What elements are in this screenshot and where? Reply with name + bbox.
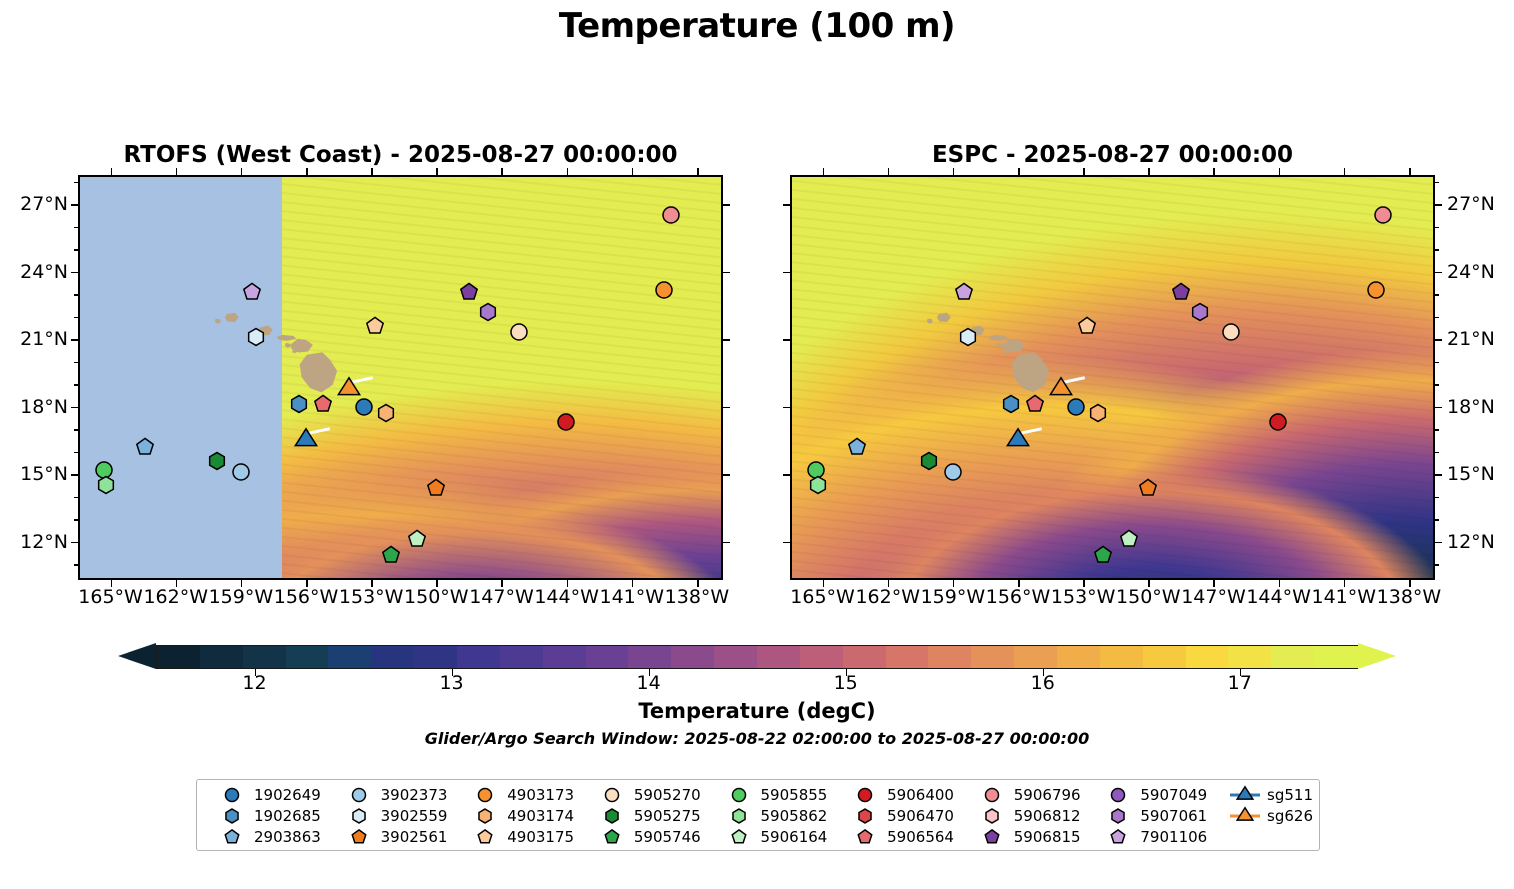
colorbar-segment [586,646,630,668]
y-minor-tick [1435,272,1439,273]
y-minor-tick [74,204,78,205]
marker-5906564[interactable] [314,395,333,414]
marker-4903174[interactable] [377,404,396,423]
y-tick [783,204,790,206]
legend-item-4903175[interactable]: 4903175 [458,826,585,847]
y-minor-tick [1435,249,1439,250]
marker-5906815[interactable] [1171,282,1190,301]
marker-3902561[interactable] [427,478,446,497]
legend-item-5906815[interactable]: 5906815 [965,826,1092,847]
marker-7901106[interactable] [242,282,261,301]
x-tick-top [1148,168,1150,175]
legend-marker-pentagon-icon [850,827,880,847]
y-minor-tick [74,497,78,498]
y-minor-tick [74,384,78,385]
marker-sg511[interactable] [1006,428,1030,452]
colorbar-segment [543,646,587,668]
legend-item-5906470[interactable]: 5906470 [838,806,965,827]
colorbar-segment [1100,646,1144,668]
legend-label: 5906815 [1014,828,1081,846]
x-tick-label: 162°W [139,586,213,608]
legend-item-5907061[interactable]: 5907061 [1091,806,1218,827]
y-tick [783,272,790,274]
colorbar-segment [757,646,801,668]
marker-2903863[interactable] [136,438,155,457]
colorbar-segment [500,646,544,668]
y-minor-tick [1435,182,1439,183]
x-tick-top [1409,168,1411,175]
legend-marker-pentagon-icon [597,827,627,847]
marker-sg511[interactable] [294,428,318,452]
marker-4903175[interactable] [366,316,385,335]
y-tick-label: 12°N [2,531,68,553]
marker-5905862[interactable] [809,476,828,495]
y-tick-label: 18°N [2,396,68,418]
y-minor-tick [74,272,78,273]
y-tick-label: 15°N [1447,463,1513,485]
x-tick-top [1344,168,1346,175]
x-tick-label: 147°W [464,586,538,608]
colorbar-tick-label: 16 [1013,672,1073,694]
panel-title-espc: ESPC - 2025-08-27 00:00:00 [790,141,1435,169]
legend-item-5905862[interactable]: 5905862 [712,806,839,827]
y-minor-tick [74,429,78,430]
colorbar-segment [328,646,372,668]
colorbar-segment [1314,646,1358,668]
y-minor-tick [1435,384,1439,385]
y-minor-tick [74,474,78,475]
y-tick-right [723,474,730,476]
legend-label: 4903174 [507,807,574,825]
legend-label: 7901106 [1140,828,1207,846]
legend-label: 5906164 [761,828,828,846]
y-minor-tick [74,407,78,408]
y-tick-label: 27°N [1447,193,1513,215]
colorbar-label: Temperature (degC) [0,699,1514,723]
marker-5906796[interactable] [1373,206,1392,225]
legend-item-4903173[interactable]: 4903173 [458,785,585,806]
marker-sg626[interactable] [1049,377,1073,401]
y-minor-tick [1435,474,1439,475]
y-minor-tick [74,452,78,453]
legend-marker-circle-icon [724,785,754,805]
y-tick-label: 18°N [1447,396,1513,418]
legend-item-5906812[interactable]: 5906812 [965,806,1092,827]
marker-7901106[interactable] [954,282,973,301]
colorbar-segment [800,646,844,668]
legend-label: 5907061 [1140,807,1207,825]
legend-item-5905746[interactable]: 5905746 [585,826,712,847]
marker-3902373[interactable] [231,462,250,481]
legend-label: 1902649 [254,786,321,804]
legend-item-7901106[interactable]: 7901106 [1091,826,1218,847]
colorbar-extend-low [118,643,156,669]
colorbar-segment [1014,646,1058,668]
legend-grid: 1902649190268529038633902373390255939025… [205,785,1313,847]
legend-item-2903863[interactable]: 2903863 [205,826,332,847]
x-tick-top [241,168,243,175]
marker-5905275[interactable] [207,451,226,470]
marker-4903173[interactable] [655,280,674,299]
x-tick-label: 153°W [1046,586,1120,608]
legend-marker-triangle-icon [1230,785,1260,805]
colorbar-segment [243,646,287,668]
x-tick-top [436,168,438,175]
marker-5906400[interactable] [1269,413,1288,432]
y-tick [783,542,790,544]
marker-4903175[interactable] [1078,316,1097,335]
legend-item-5905275[interactable]: 5905275 [585,806,712,827]
legend-item-5906400[interactable]: 5906400 [838,785,965,806]
x-tick-top [306,168,308,175]
colorbar [118,645,1396,669]
marker-5906164[interactable] [407,530,426,549]
legend-marker-circle-icon [470,785,500,805]
legend-label: 5906564 [887,828,954,846]
legend-label: sg626 [1267,807,1313,825]
x-tick-label: 141°W [595,586,669,608]
legend-marker-hexagon-icon [1103,806,1133,826]
legend-item-3902561[interactable]: 3902561 [332,826,459,847]
legend-item-1902649[interactable]: 1902649 [205,785,332,806]
y-minor-tick [74,339,78,340]
y-tick-label: 21°N [2,328,68,350]
legend-marker-circle-icon [850,785,880,805]
x-tick-label: 153°W [334,586,408,608]
y-minor-tick [1435,564,1439,565]
x-tick-label: 159°W [916,586,990,608]
x-tick-label: 147°W [1176,586,1250,608]
marker-5905746[interactable] [381,546,400,565]
legend-label: 3902559 [381,807,448,825]
x-tick-top [632,168,634,175]
legend-item-5907049[interactable]: 5907049 [1091,785,1218,806]
legend-marker-hexagon-icon [597,806,627,826]
colorbar-segment [457,646,501,668]
marker-3902559[interactable] [958,327,977,346]
x-tick-label: 159°W [204,586,278,608]
legend-label: 5906812 [1014,807,1081,825]
marker-5905270[interactable] [1221,323,1240,342]
x-tick-label: 144°W [530,586,604,608]
x-tick-top [1213,168,1215,175]
legend-item-5906564[interactable]: 5906564 [838,826,965,847]
x-tick-label: 150°W [399,586,473,608]
legend-marker-hexagon-icon [850,806,880,826]
map-panel-espc[interactable] [790,175,1435,580]
colorbar-segment [1186,646,1230,668]
legend-item-5905270[interactable]: 5905270 [585,785,712,806]
legend-marker-pentagon-icon [217,827,247,847]
legend-label: 3902561 [381,828,448,846]
colorbar-segment [414,646,458,668]
colorbar-extend-high [1358,643,1396,669]
legend-item-5906164[interactable]: 5906164 [712,826,839,847]
colorbar-segment [928,646,972,668]
x-tick-label: 162°W [851,586,925,608]
y-minor-tick [74,294,78,295]
y-minor-tick [1435,497,1439,498]
figure-title: Temperature (100 m) [0,6,1514,46]
legend-marker-pentagon-icon [344,827,374,847]
x-tick-label: 150°W [1111,586,1185,608]
marker-3902561[interactable] [1139,478,1158,497]
marker-5906796[interactable] [661,206,680,225]
y-minor-tick [1435,429,1439,430]
legend-marker-pentagon-icon [977,827,1007,847]
legend-item-1902685[interactable]: 1902685 [205,806,332,827]
marker-5906400[interactable] [557,413,576,432]
x-tick-top [888,168,890,175]
legend-item-sg511[interactable]: sg511 [1218,785,1313,806]
y-tick-right [723,542,730,544]
legend-label: sg511 [1267,786,1313,804]
y-tick [783,339,790,341]
y-tick-right [723,272,730,274]
x-tick-label: 144°W [1242,586,1316,608]
y-tick-label: 15°N [2,463,68,485]
y-minor-tick [74,542,78,543]
colorbar-body [156,645,1358,669]
colorbar-segment [628,646,672,668]
colorbar-tick-label: 15 [816,672,876,694]
marker-1902685[interactable] [1002,395,1021,414]
y-minor-tick [1435,407,1439,408]
y-tick-label: 24°N [1447,261,1513,283]
legend-marker-hexagon-icon [344,806,374,826]
legend-marker-hexagon-icon [977,806,1007,826]
legend-item-3902373[interactable]: 3902373 [332,785,459,806]
colorbar-segment [1228,646,1272,668]
colorbar-segment [1143,646,1187,668]
marker-4903174[interactable] [1089,404,1108,423]
marker-1902685[interactable] [290,395,309,414]
legend-marker-circle-icon [977,785,1007,805]
legend-item-5905855[interactable]: 5905855 [712,785,839,806]
colorbar-tick-label: 13 [422,672,482,694]
y-minor-tick [1435,362,1439,363]
legend-marker-hexagon-icon [470,806,500,826]
legend-item-3902559[interactable]: 3902559 [332,806,459,827]
y-tick [783,474,790,476]
legend-item-sg626[interactable]: sg626 [1218,806,1313,827]
x-tick-label: 138°W [660,586,734,608]
legend-label: 5906400 [887,786,954,804]
colorbar-segment [671,646,715,668]
marker-sg626[interactable] [337,377,361,401]
legend-marker-circle-icon [1103,785,1133,805]
y-tick-right [723,407,730,409]
panel-title-rtofs: RTOFS (West Coast) - 2025-08-27 00:00:00 [78,141,723,169]
x-tick-label: 165°W [74,586,148,608]
legend-label: 4903173 [507,786,574,804]
marker-5907061[interactable] [479,303,498,322]
x-tick-top [1279,168,1281,175]
x-tick-top [697,168,699,175]
colorbar-segment [971,646,1015,668]
marker-5905270[interactable] [509,323,528,342]
y-tick-label: 24°N [2,261,68,283]
colorbar-segment [714,646,758,668]
y-minor-tick [1435,519,1439,520]
marker-5905746[interactable] [1093,546,1112,565]
search-window-caption: Glider/Argo Search Window: 2025-08-22 02… [0,729,1514,748]
legend-marker-circle-icon [597,785,627,805]
x-tick-top [823,168,825,175]
x-tick-label: 156°W [981,586,1055,608]
colorbar-segment [200,646,244,668]
legend-marker-circle-icon [344,785,374,805]
x-tick-top [176,168,178,175]
colorbar-segment [1057,646,1101,668]
legend-marker-pentagon-icon [724,827,754,847]
y-minor-tick [1435,317,1439,318]
legend-item-4903174[interactable]: 4903174 [458,806,585,827]
y-minor-tick [1435,339,1439,340]
legend-label: 5906470 [887,807,954,825]
x-tick-label: 165°W [786,586,860,608]
x-tick-top [567,168,569,175]
legend-marker-hexagon-icon [217,806,247,826]
marker-3902373[interactable] [943,462,962,481]
marker-5906164[interactable] [1119,530,1138,549]
legend-label: 2903863 [254,828,321,846]
colorbar-segment [843,646,887,668]
marker-5906815[interactable] [459,282,478,301]
y-minor-tick [74,227,78,228]
legend-marker-hexagon-icon [724,806,754,826]
legend-label: 5905270 [634,786,701,804]
y-minor-tick [74,317,78,318]
x-tick-top [1083,168,1085,175]
x-tick-top [501,168,503,175]
y-minor-tick [1435,452,1439,453]
y-minor-tick [74,182,78,183]
colorbar-tick-label: 12 [225,672,285,694]
colorbar-segment [157,646,201,668]
legend-label: 5906796 [1014,786,1081,804]
legend-label: 1902685 [254,807,321,825]
marker-2903863[interactable] [848,438,867,457]
legend-label: 4903175 [507,828,574,846]
y-minor-tick [1435,227,1439,228]
legend-marker-pentagon-icon [1103,827,1133,847]
x-tick-label: 156°W [269,586,343,608]
no-data-region [80,177,282,578]
contour-banding [792,177,1433,578]
x-tick-top [371,168,373,175]
colorbar-tick-label: 14 [619,672,679,694]
legend-label: 5905275 [634,807,701,825]
x-tick-label: 138°W [1372,586,1446,608]
colorbar-segment [1271,646,1315,668]
marker-5906564[interactable] [1026,395,1045,414]
y-minor-tick [1435,204,1439,205]
temperature-field-espc [792,177,1433,578]
legend-item-5906796[interactable]: 5906796 [965,785,1092,806]
legend-marker-circle-icon [217,785,247,805]
x-tick-top [1018,168,1020,175]
legend-label: 3902373 [381,786,448,804]
marker-5907061[interactable] [1191,303,1210,322]
marker-3902559[interactable] [246,327,265,346]
legend-marker-pentagon-icon [470,827,500,847]
x-tick-label: 141°W [1307,586,1381,608]
legend[interactable]: 1902649190268529038633902373390255939025… [196,779,1320,851]
colorbar-segment [371,646,415,668]
legend-label: 5905746 [634,828,701,846]
y-minor-tick [74,564,78,565]
y-tick-right [723,339,730,341]
marker-5905275[interactable] [919,451,938,470]
y-minor-tick [74,362,78,363]
x-tick-top [953,168,955,175]
y-minor-tick [74,249,78,250]
x-tick-top [111,168,113,175]
y-minor-tick [1435,542,1439,543]
marker-4903173[interactable] [1367,280,1386,299]
y-tick-label: 21°N [1447,328,1513,350]
y-minor-tick [1435,294,1439,295]
y-tick-label: 12°N [1447,531,1513,553]
legend-label: 5905862 [761,807,828,825]
legend-label: 5905855 [761,786,828,804]
y-tick-right [723,204,730,206]
marker-5905862[interactable] [97,476,116,495]
y-tick-label: 27°N [2,193,68,215]
colorbar-tick-label: 17 [1210,672,1270,694]
y-minor-tick [74,519,78,520]
map-panel-rtofs[interactable] [78,175,723,580]
legend-label: 5907049 [1140,786,1207,804]
y-tick [783,407,790,409]
legend-marker-triangle-icon [1230,806,1260,826]
colorbar-segment [886,646,930,668]
colorbar-segment [286,646,330,668]
